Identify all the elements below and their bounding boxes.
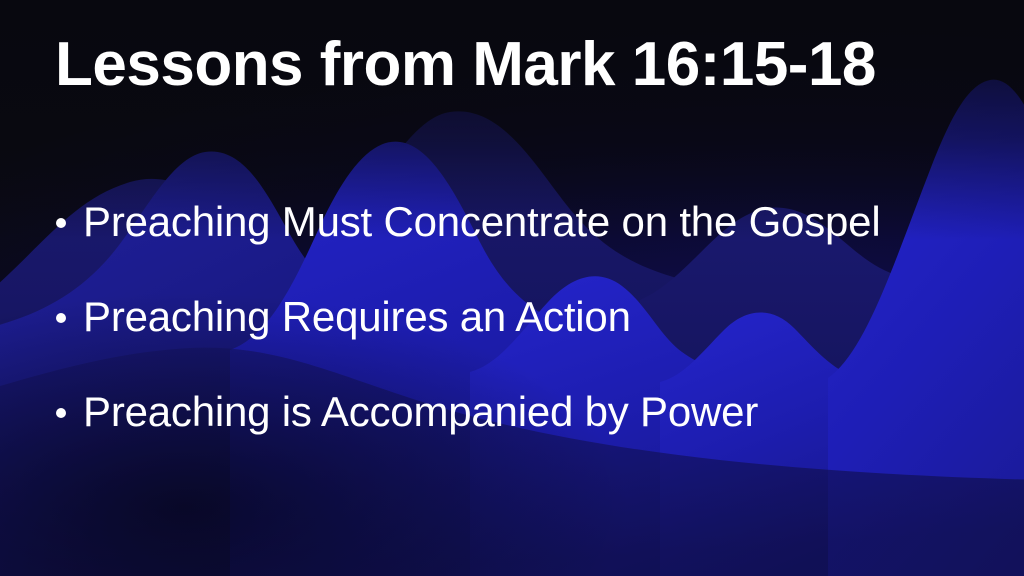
bullet-item-1: Preaching Must Concentrate on the Gospel: [52, 196, 932, 247]
bullet-item-2: Preaching Requires an Action: [52, 291, 932, 342]
bullet-dot-icon: [56, 313, 66, 323]
bullet-dot-icon: [56, 408, 66, 418]
slide-title: Lessons from Mark 16:15-18: [55, 32, 975, 99]
bullet-item-label: Preaching Must Concentrate on the Gospel: [83, 196, 932, 247]
bullet-list: Preaching Must Concentrate on the Gospel…: [52, 196, 932, 438]
presentation-slide: Lessons from Mark 16:15-18 Preaching Mus…: [0, 0, 1024, 576]
bullet-dot-icon: [56, 218, 66, 228]
bullet-item-3: Preaching is Accompanied by Power: [52, 386, 932, 437]
bullet-item-label: Preaching Requires an Action: [83, 291, 932, 342]
slide-content: Lessons from Mark 16:15-18 Preaching Mus…: [0, 0, 1024, 576]
bullet-item-label: Preaching is Accompanied by Power: [83, 386, 932, 437]
